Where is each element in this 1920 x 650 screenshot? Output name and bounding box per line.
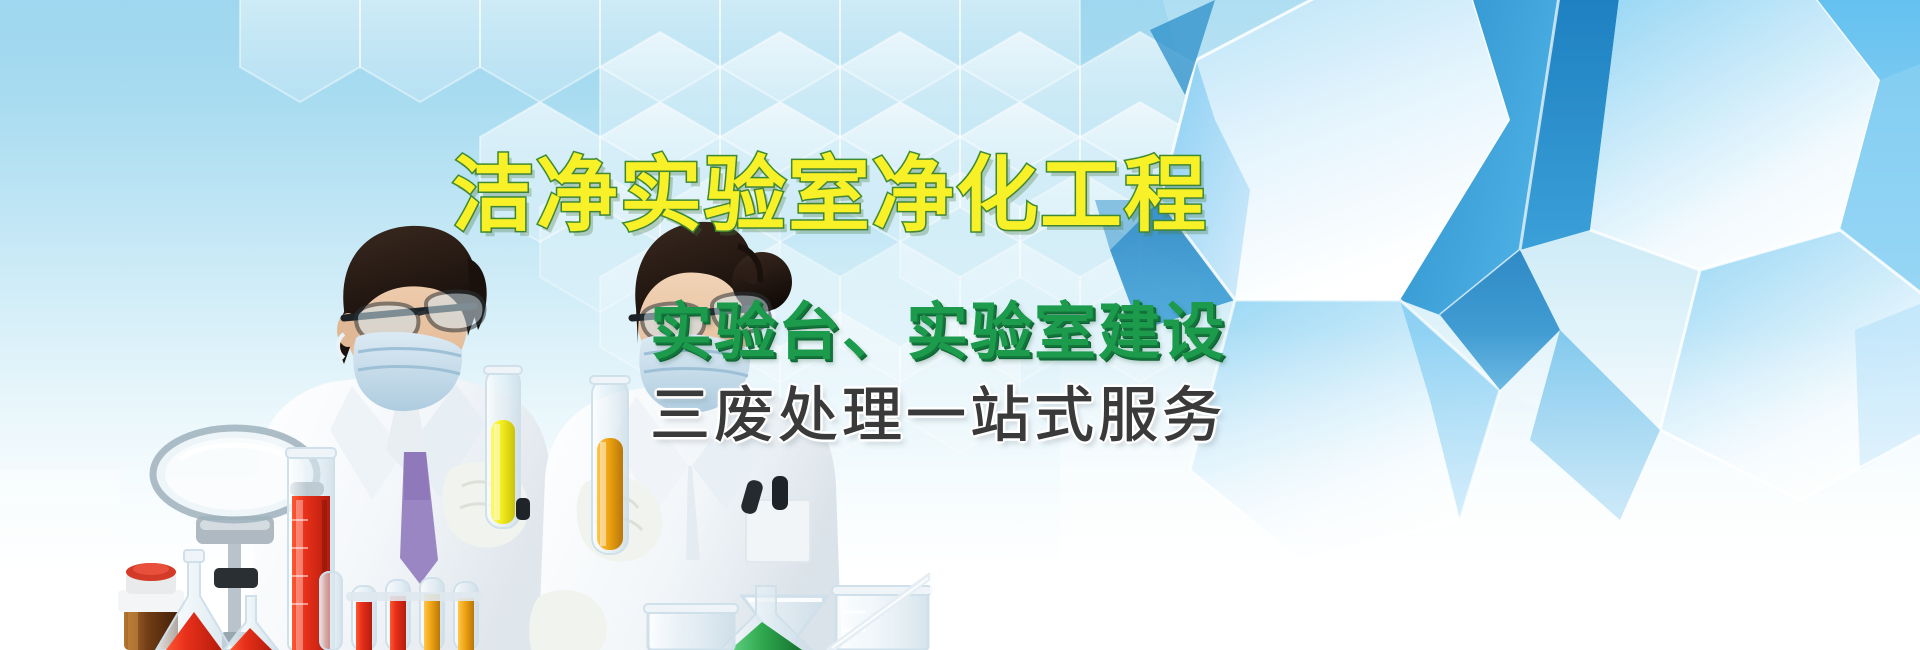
lab-purification-banner: 洁净实验室净化工程 实验台、实验室建设 三废处理一站式服务 — [0, 0, 1920, 650]
lab-scene-layer — [0, 0, 1920, 650]
beaker-left-lower — [644, 604, 738, 650]
female-scientist — [529, 222, 842, 650]
